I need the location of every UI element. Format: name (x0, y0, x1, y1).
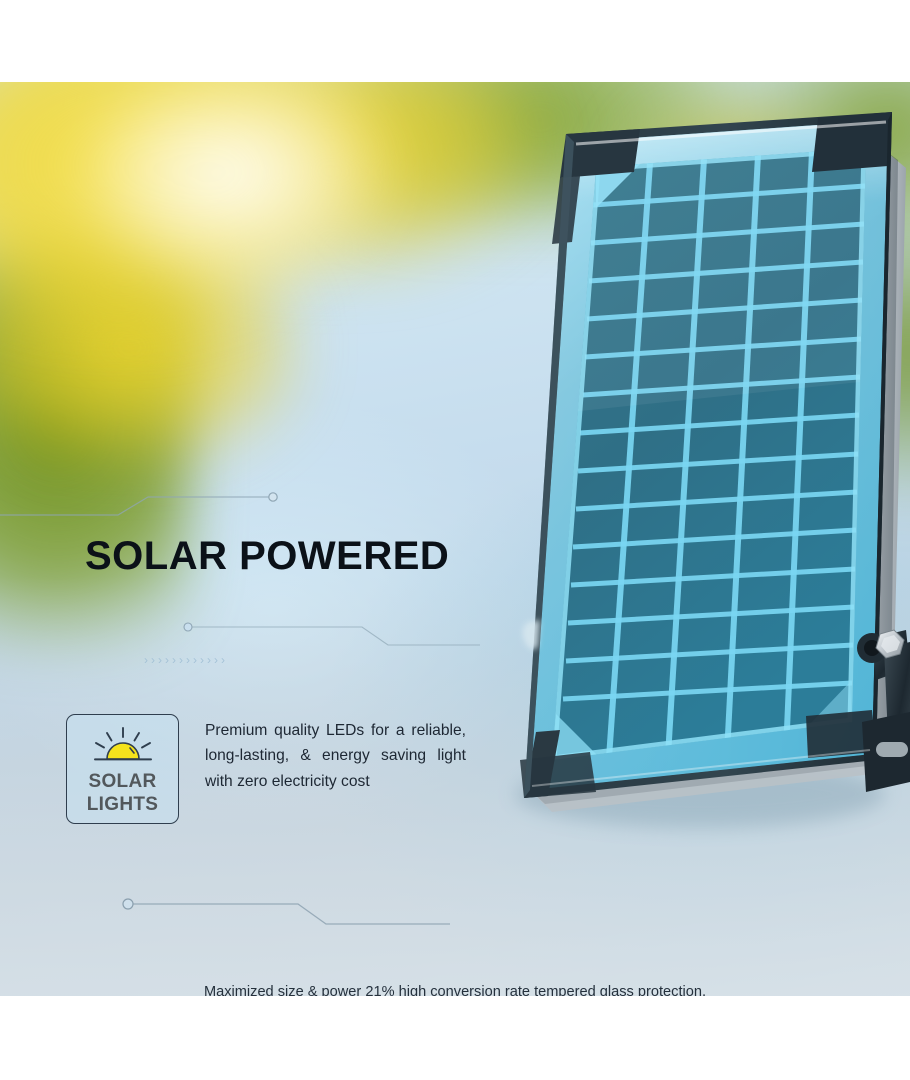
feature-description: Premium quality LEDs for a reliable, lon… (205, 714, 466, 794)
chevron-icon: › (172, 654, 176, 666)
chevron-icon: › (158, 654, 162, 666)
chevron-icon: › (200, 654, 204, 666)
chevron-icon: › (193, 654, 197, 666)
badge-label-lights: LIGHTS (87, 793, 158, 816)
solar-lights-badge: SOLAR LIGHTS (66, 714, 179, 824)
top-whitespace (0, 0, 910, 82)
page-title: SOLAR POWERED (85, 534, 449, 579)
feature-row: SOLAR LIGHTS Premium quality LEDs for a … (66, 714, 466, 824)
product-banner: ›››››››››››› (0, 82, 910, 996)
caption-line-1: Maximized size & power 21% high conversi… (0, 978, 910, 996)
chevron-icon: › (165, 654, 169, 666)
chevron-icon: › (186, 654, 190, 666)
decorative-circuit-line-top (0, 477, 290, 522)
chevron-icon: › (207, 654, 211, 666)
chevron-icon: › (151, 654, 155, 666)
product-caption: Maximized size & power 21% high conversi… (0, 978, 910, 996)
chevron-icon: › (179, 654, 183, 666)
chevron-icon: › (221, 654, 225, 666)
chevron-dash-row: ›››››››››››› (144, 654, 225, 666)
sun-icon (86, 726, 160, 768)
badge-label-solar: SOLAR (89, 770, 157, 793)
bokeh-foliage-far-right (820, 202, 910, 502)
sun-flare (0, 82, 430, 362)
bottom-whitespace (0, 996, 910, 1080)
chevron-icon: › (144, 654, 148, 666)
decorative-circuit-line-middle (150, 612, 480, 657)
decorative-circuit-line-bottom (120, 877, 450, 937)
chevron-icon: › (214, 654, 218, 666)
